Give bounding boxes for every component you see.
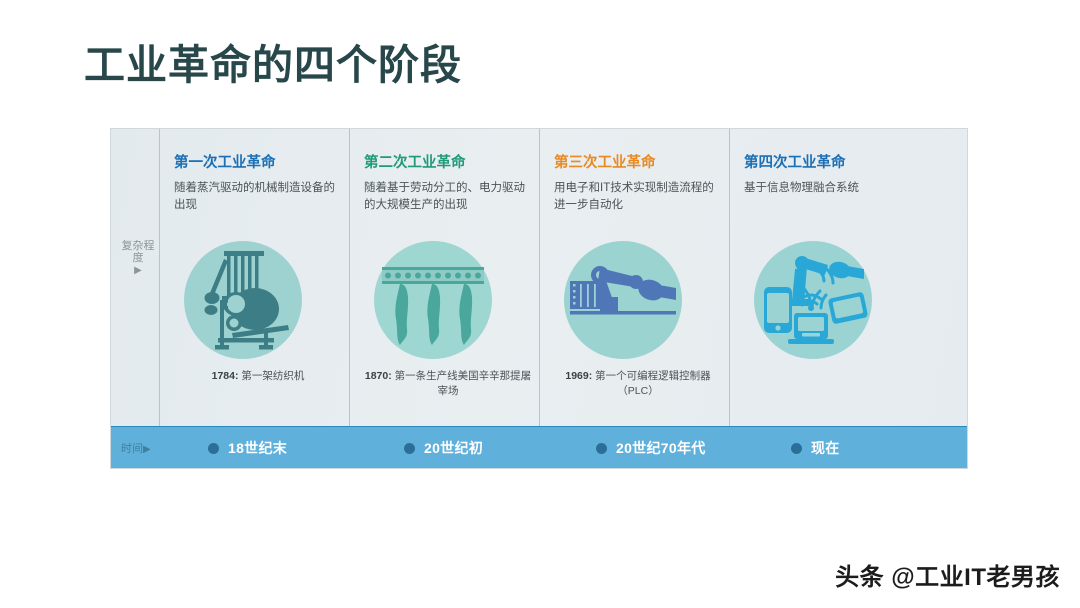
assembly-line-icon <box>374 241 492 359</box>
timeline-item-2[interactable]: 20世纪初 <box>404 438 483 458</box>
time-axis-label: 时间▶ <box>121 440 151 456</box>
timeline-label-2: 20世纪初 <box>424 438 483 458</box>
phase-description-3: 用电子和IT技术实现制造流程的进一步自动化 <box>554 180 720 213</box>
phase-description-1: 随着蒸汽驱动的机械制造设备的出现 <box>174 180 340 213</box>
phase-caption-1: 1784: 第一架纺织机 <box>172 369 344 384</box>
timeline-item-3[interactable]: 20世纪70年代 <box>596 438 706 458</box>
phase-column-1[interactable]: 第一次工业革命 随着蒸汽驱动的机械制造设备的出现 <box>159 129 349 429</box>
phase-column-4[interactable]: 第四次工业革命 基于信息物理融合系统 <box>729 129 919 429</box>
phase-caption-text-3: 第一个可编程逻辑控制器（PLC） <box>595 370 711 397</box>
phase-description-2: 随着基于劳动分工的、电力驱动的大规模生产的出现 <box>364 180 530 213</box>
timeline-label-1: 18世纪末 <box>228 438 287 458</box>
timeline-bar: 时间▶ 18世纪末 20世纪初 20世纪70年代 现在 <box>111 426 967 468</box>
timeline-dot-icon <box>404 443 415 454</box>
timeline-item-1[interactable]: 18世纪末 <box>208 438 287 458</box>
phase-description-4: 基于信息物理融合系统 <box>744 180 910 197</box>
complexity-axis-text: 复杂程度 <box>121 241 155 265</box>
timeline-dot-icon <box>791 443 802 454</box>
time-axis-text: 时间 <box>121 443 143 455</box>
phase-caption-text-2: 第一条生产线美国辛辛那提屠宰场 <box>395 370 532 397</box>
time-arrow-icon: ▶ <box>143 444 151 455</box>
phase-columns: 第一次工业革命 随着蒸汽驱动的机械制造设备的出现 <box>159 129 967 429</box>
phase-caption-2: 1870: 第一条生产线美国辛辛那提屠宰场 <box>362 369 534 398</box>
page-title: 工业革命的四个阶段 <box>84 42 462 89</box>
timeline-dot-icon <box>208 443 219 454</box>
iot-connected-devices-icon <box>754 241 872 359</box>
phase-caption-year-1: 1784: <box>212 370 239 382</box>
timeline-label-4: 现在 <box>811 438 840 458</box>
phase-caption-3: 1969: 第一个可编程逻辑控制器（PLC） <box>552 369 724 398</box>
phase-caption-year-2: 1870: <box>365 370 392 382</box>
phase-caption-text-1: 第一架纺织机 <box>241 370 304 382</box>
phase-title-2: 第二次工业革命 <box>364 155 539 172</box>
timeline-item-4[interactable]: 现在 <box>791 438 840 458</box>
complexity-axis-label: 复杂程度 ▶ <box>121 241 155 277</box>
mechanical-loom-icon <box>184 241 302 359</box>
phase-column-3[interactable]: 第三次工业革命 用电子和IT技术实现制造流程的进一步自动化 <box>539 129 729 429</box>
phase-title-3: 第三次工业革命 <box>554 155 729 172</box>
watermark: 头条 @工业IT老男孩 <box>835 557 1060 592</box>
phase-title-4: 第四次工业革命 <box>744 155 919 172</box>
timeline-dot-icon <box>596 443 607 454</box>
phase-title-1: 第一次工业革命 <box>174 155 349 172</box>
phase-column-2[interactable]: 第二次工业革命 随着基于劳动分工的、电力驱动的大规模生产的出现 <box>349 129 539 429</box>
phase-caption-year-3: 1969: <box>565 370 592 382</box>
industrial-revolution-infographic: 复杂程度 ▶ 第一次工业革命 随着蒸汽驱动的机械制造设备的出现 <box>110 128 968 469</box>
complexity-arrow-icon: ▶ <box>121 266 155 277</box>
timeline-label-3: 20世纪70年代 <box>616 438 706 458</box>
robot-arm-plc-icon <box>564 241 682 359</box>
